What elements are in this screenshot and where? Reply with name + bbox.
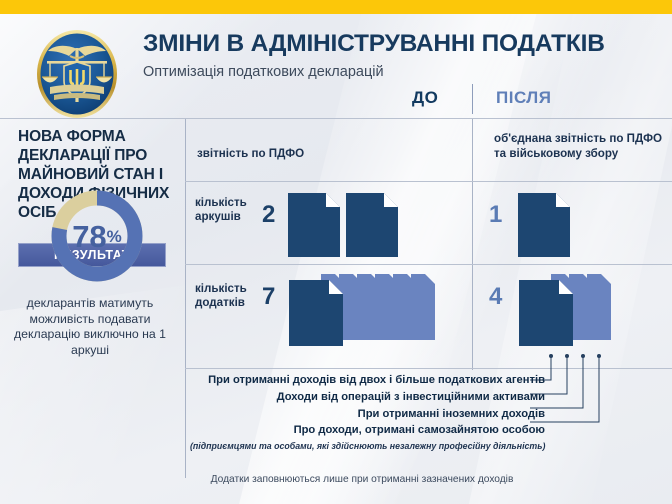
annotation-item-3: При отриманні іноземних доходів bbox=[190, 406, 545, 423]
annotation-item-1: При отриманні доходів від двох і більше … bbox=[190, 372, 545, 389]
footer-note-text: Додатки заповнюються лише при отриманні … bbox=[211, 474, 514, 485]
annotation-note: (підприємцями та особами, які здійснюють… bbox=[190, 440, 545, 453]
annotation-item-2: Доходи від операцій з інвестиційними акт… bbox=[190, 389, 545, 406]
annotation-item-4: Про доходи, отримані самозайнятою особою bbox=[190, 422, 545, 439]
annotation-list: При отриманні доходів від двох і більше … bbox=[190, 372, 545, 453]
infographic-page: ЗМІНИ В АДМІНІСТРУВАННІ ПОДАТКІВ Оптиміз… bbox=[0, 0, 672, 504]
footer-note: Додатки заповнюються лише при отриманні … bbox=[0, 474, 672, 485]
